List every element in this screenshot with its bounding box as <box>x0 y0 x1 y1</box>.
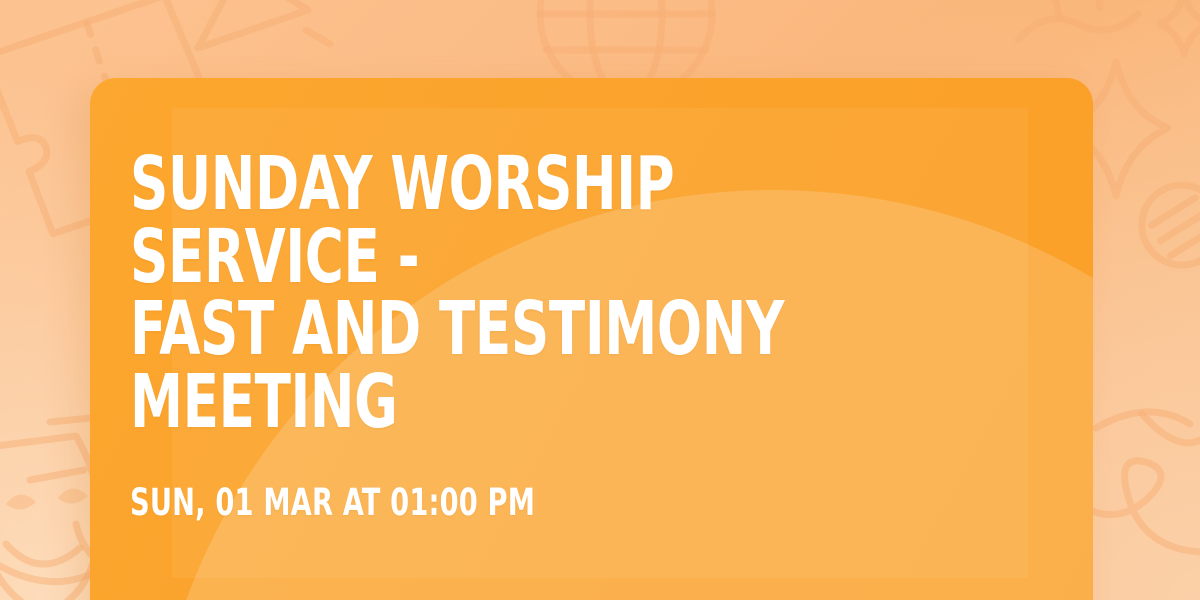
confetti-icon <box>1018 0 1138 40</box>
event-card-content: Sunday Worship Service - Fast and Testim… <box>130 148 1035 521</box>
microphone-icon <box>1127 170 1200 331</box>
sparkle-icon-small <box>1160 0 1200 54</box>
event-datetime: Sun, 01 Mar at 01:00 PM <box>130 484 872 521</box>
ribbon-swirl-icon-left <box>0 560 96 582</box>
event-card: Sunday Worship Service - Fast and Testim… <box>90 78 1093 600</box>
party-popper-icon <box>198 0 338 48</box>
event-banner: Sunday Worship Service - Fast and Testim… <box>0 0 1200 600</box>
event-title: Sunday Worship Service - Fast and Testim… <box>130 148 854 438</box>
